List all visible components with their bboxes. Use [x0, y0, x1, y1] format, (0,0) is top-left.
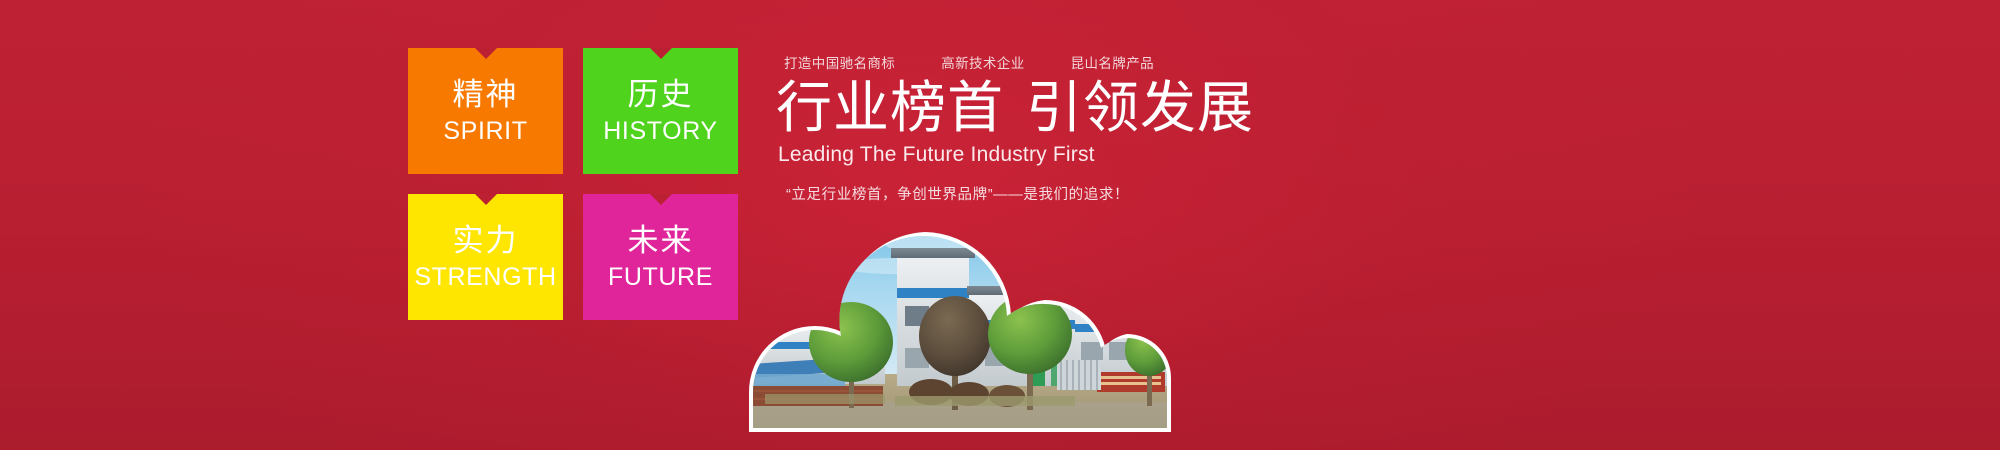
tile-future[interactable]: 未来 FUTURE: [583, 194, 738, 320]
cloud-photo-svg: [745, 196, 1175, 450]
right-building-roof: [1075, 300, 1171, 308]
brick-line: [753, 390, 883, 392]
credential-badge: 打造中国驰名商标: [784, 52, 895, 72]
promo-banner: 精神 SPIRIT 历史 HISTORY 实力 STRENGTH 未来 FUTU…: [0, 0, 2000, 450]
tile-notch-icon: [475, 194, 497, 205]
pavement: [745, 402, 1175, 450]
tile-title-cn: 实力: [453, 225, 519, 256]
window: [1081, 342, 1103, 360]
tile-title-cn: 精神: [453, 79, 519, 110]
credential-badge: 高新技术企业: [941, 52, 1024, 72]
credential-badge-row: 打造中国驰名商标 高新技术企业 昆山名牌产品: [778, 52, 1198, 72]
wispy-cloud: [985, 247, 1105, 265]
tile-title-cn: 历史: [628, 79, 694, 110]
factory-photo-collage: [745, 196, 1175, 450]
page-title: 行业榜首引领发展: [776, 78, 1198, 137]
tile-title-en: SPIRIT: [443, 119, 527, 144]
credential-badge: 昆山名牌产品: [1071, 52, 1154, 72]
value-tile-grid: 精神 SPIRIT 历史 HISTORY 实力 STRENGTH 未来 FUTU…: [408, 48, 738, 320]
tile-history[interactable]: 历史 HISTORY: [583, 48, 738, 174]
subtitle: Leading The Future Industry First: [778, 143, 1198, 167]
tile-title-en: STRENGTH: [414, 265, 556, 290]
tile-notch-icon: [475, 48, 497, 59]
right-building-stripe: [1075, 324, 1171, 332]
tile-title-en: HISTORY: [603, 119, 717, 144]
center-wing-roof: [967, 286, 1083, 295]
headline-block: 打造中国驰名商标 高新技术企业 昆山名牌产品 行业榜首引领发展 Leading …: [778, 52, 1198, 204]
gate-bars: [1061, 360, 1097, 390]
hedge-strip: [765, 394, 885, 404]
tile-title-cn: 未来: [628, 225, 694, 256]
tile-spirit[interactable]: 精神 SPIRIT: [408, 48, 563, 174]
hedge-strip: [895, 396, 1075, 406]
tile-strength[interactable]: 实力 STRENGTH: [408, 194, 563, 320]
center-tower-roof: [891, 248, 975, 258]
tile-notch-icon: [650, 194, 672, 205]
headline-part-2: 引领发展: [1026, 76, 1254, 139]
headline-part-1: 行业榜首: [776, 76, 1004, 139]
tile-notch-icon: [650, 48, 672, 59]
photo-content: [745, 196, 1175, 450]
tile-title-en: FUTURE: [608, 265, 713, 290]
